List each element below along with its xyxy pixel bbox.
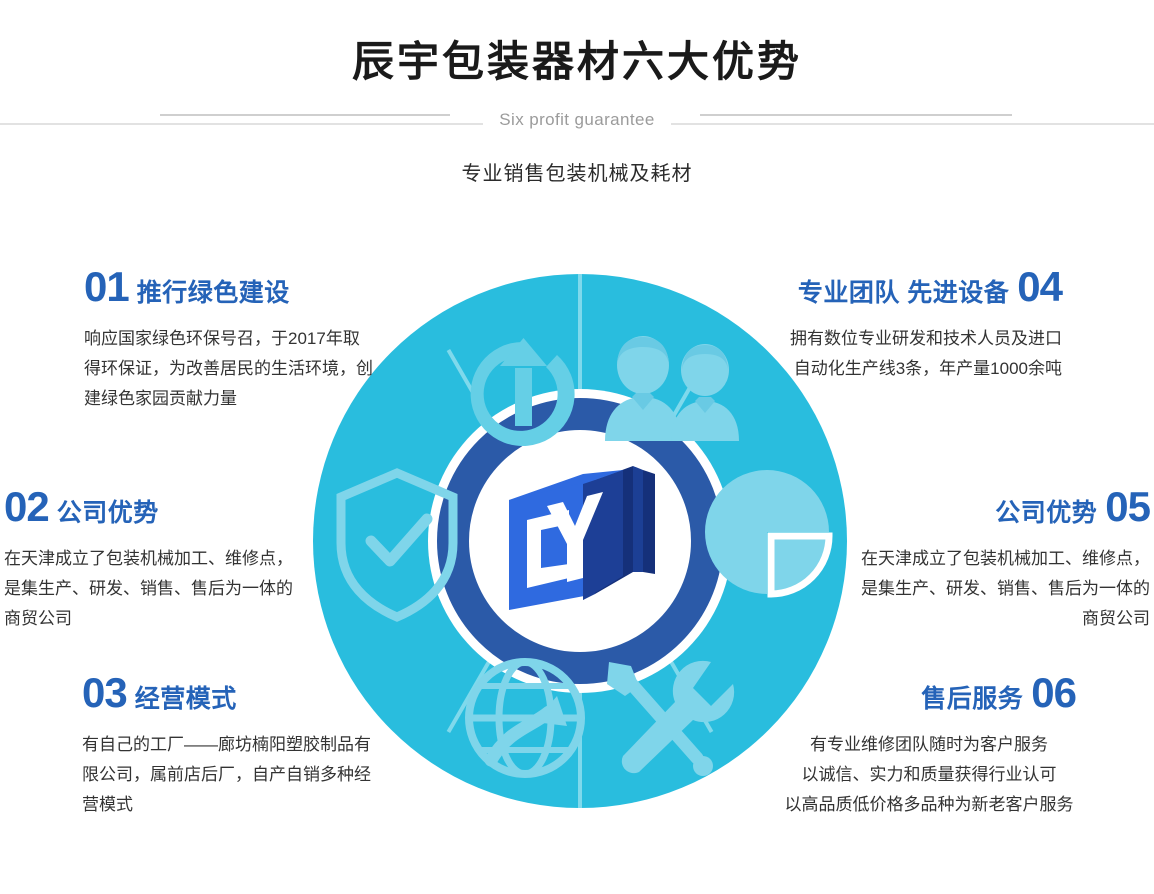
feature-label-06: 售后服务	[921, 687, 1023, 712]
feature-label-01: 推行绿色建设	[137, 281, 290, 306]
feature-heading-06: 售后服务 06	[782, 672, 1076, 714]
feature-body-01: 响应国家绿色环保号召，于2017年取得环保证，为改善居民的生活环境，创建绿色家园…	[84, 324, 376, 414]
pie-chart-icon	[705, 470, 829, 594]
feature-number-04: 04	[1017, 266, 1062, 308]
feature-heading-02: 02 公司优势	[4, 486, 296, 528]
subtitle-english-text: Six profit guarantee	[483, 110, 670, 129]
feature-block-03: 03 经营模式 有自己的工厂——廊坊楠阳塑胶制品有限公司，属前店后厂，自产自销多…	[82, 672, 382, 820]
feature-number-02: 02	[4, 486, 49, 528]
feature-body-03: 有自己的工厂——廊坊楠阳塑胶制品有限公司，属前店后厂，自产自销多种经营模式	[82, 730, 382, 820]
feature-block-01: 01 推行绿色建设 响应国家绿色环保号召，于2017年取得环保证，为改善居民的生…	[84, 266, 376, 414]
feature-body-05: 在天津成立了包装机械加工、维修点，是集生产、研发、销售、售后为一体的商贸公司	[852, 544, 1150, 634]
infographic-canvas: 辰宇包装器材六大优势 Six profit guarantee 专业销售包装机械…	[0, 0, 1154, 894]
feature-heading-04: 专业团队 先进设备 04	[778, 266, 1062, 308]
feature-heading-03: 03 经营模式	[82, 672, 382, 714]
feature-label-04: 专业团队 先进设备	[798, 281, 1009, 306]
page-title: 辰宇包装器材六大优势	[0, 36, 1154, 88]
package-box-logo	[509, 466, 655, 610]
feature-number-05: 05	[1105, 486, 1150, 528]
subtitle-chinese: 专业销售包装机械及耗材	[0, 157, 1154, 186]
feature-label-02: 公司优势	[57, 501, 159, 526]
feature-body-06: 有专业维修团队随时为客户服务 以诚信、实力和质量获得行业认可 以高品质低价格多品…	[782, 730, 1076, 820]
feature-number-06: 06	[1031, 672, 1076, 714]
center-logo	[483, 444, 677, 638]
feature-number-03: 03	[82, 672, 127, 714]
subtitle-english: Six profit guarantee	[0, 110, 1154, 130]
feature-heading-05: 公司优势 05	[852, 486, 1150, 528]
feature-number-01: 01	[84, 266, 129, 308]
feature-block-02: 02 公司优势 在天津成立了包装机械加工、维修点，是集生产、研发、销售、售后为一…	[4, 486, 296, 634]
feature-label-03: 经营模式	[135, 687, 237, 712]
feature-body-04: 拥有数位专业研发和技术人员及进口自动化生产线3条，年产量1000余吨	[778, 324, 1062, 384]
feature-body-02: 在天津成立了包装机械加工、维修点，是集生产、研发、销售、售后为一体的商贸公司	[4, 544, 296, 634]
feature-label-05: 公司优势	[995, 501, 1097, 526]
feature-block-05: 公司优势 05 在天津成立了包装机械加工、维修点，是集生产、研发、销售、售后为一…	[852, 486, 1150, 634]
feature-block-06: 售后服务 06 有专业维修团队随时为客户服务 以诚信、实力和质量获得行业认可 以…	[782, 672, 1076, 820]
feature-block-04: 专业团队 先进设备 04 拥有数位专业研发和技术人员及进口自动化生产线3条，年产…	[778, 266, 1062, 384]
feature-heading-01: 01 推行绿色建设	[84, 266, 376, 308]
